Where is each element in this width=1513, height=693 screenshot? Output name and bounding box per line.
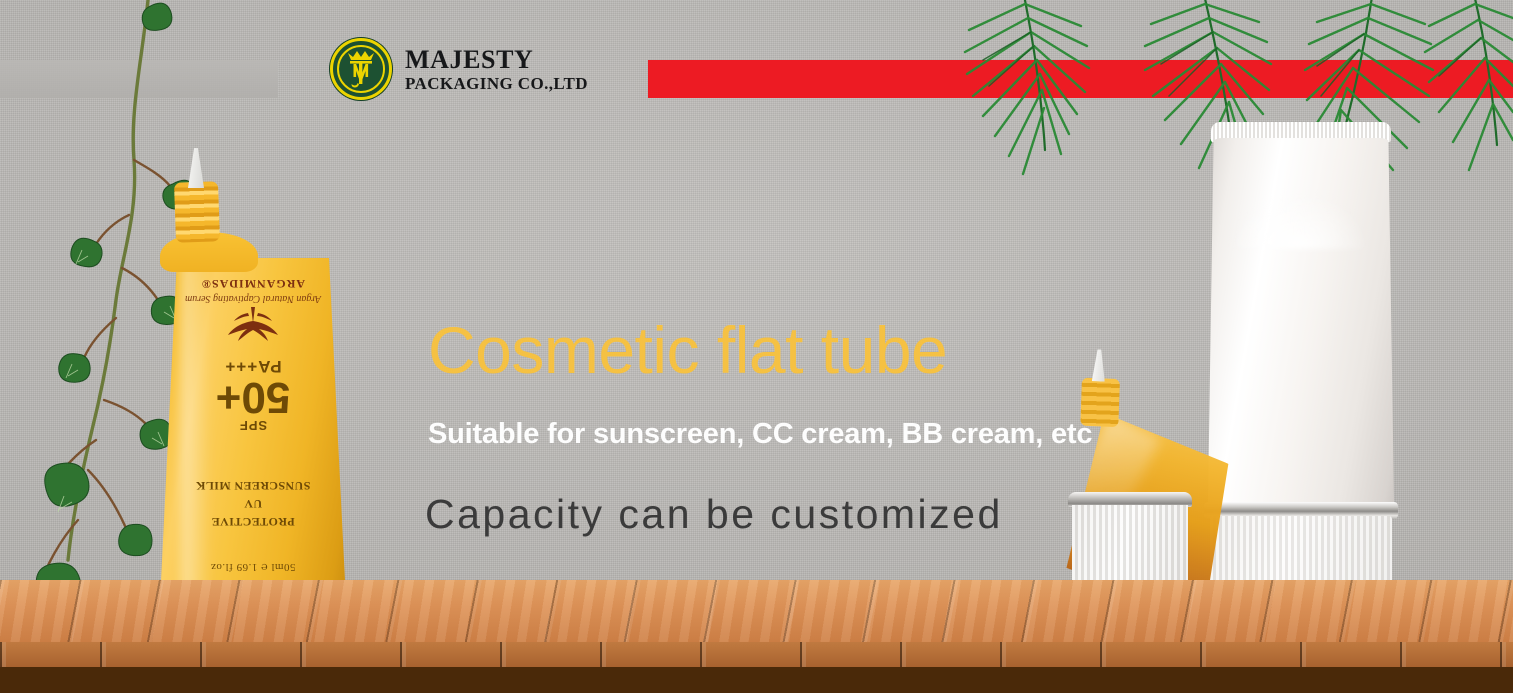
label-brand-tagline: Argan Natural Captivating Serum (158, 292, 348, 306)
wooden-floor (0, 580, 1513, 693)
majesty-crown-monogram-icon (330, 38, 392, 100)
floor-base (0, 667, 1513, 693)
brand-logo: MAJESTY PACKAGING CO.,LTD (330, 38, 588, 100)
label-brand-block: Argan Natural Captivating Serum ARGANMID… (158, 277, 348, 342)
floor-edge-band (0, 642, 1513, 667)
label-spf-block: SPF 50+ PA+++ (158, 356, 348, 433)
cap-body (1072, 505, 1188, 591)
palm-frond-decoration (873, 0, 1513, 235)
brand-name: MAJESTY (405, 45, 588, 74)
label-brand-name: ARGANMIDAS® (158, 277, 348, 292)
floor-planks (0, 580, 1513, 642)
hero-tagline: Capacity can be customized (425, 491, 1003, 538)
promo-banner: MAJESTY PACKAGING CO.,LTD (0, 0, 1513, 693)
label-product-line1: PROTECTIVE (211, 515, 294, 529)
yellow-tube-label: 50ml ℮ 1.69 fl.oz PROTECTIVE UV SUNSCREE… (158, 258, 348, 603)
amber-tube-nozzle-tip (1092, 349, 1106, 381)
argan-tree-icon (226, 307, 280, 341)
yellow-tube-neck (174, 181, 220, 242)
label-product-line3: SUNSCREEN MILK (196, 479, 311, 493)
hero-headline: Cosmetic flat tube (428, 312, 947, 388)
label-pa-rating: PA+++ (158, 356, 348, 376)
label-product-name: PROTECTIVE UV SUNSCREEN MILK (158, 477, 348, 531)
yellow-tube-nozzle-tip (188, 148, 204, 188)
label-spf-value: 50+ (158, 376, 348, 418)
yellow-flat-tube: 50ml ℮ 1.69 fl.oz PROTECTIVE UV SUNSCREE… (150, 140, 350, 620)
hero-subline: Suitable for sunscreen, CC cream, BB cre… (428, 418, 1092, 451)
label-volume: 50ml ℮ 1.69 fl.oz (158, 561, 348, 573)
label-product-line2: UV (244, 497, 262, 511)
brand-subtitle: PACKAGING CO.,LTD (405, 74, 588, 93)
